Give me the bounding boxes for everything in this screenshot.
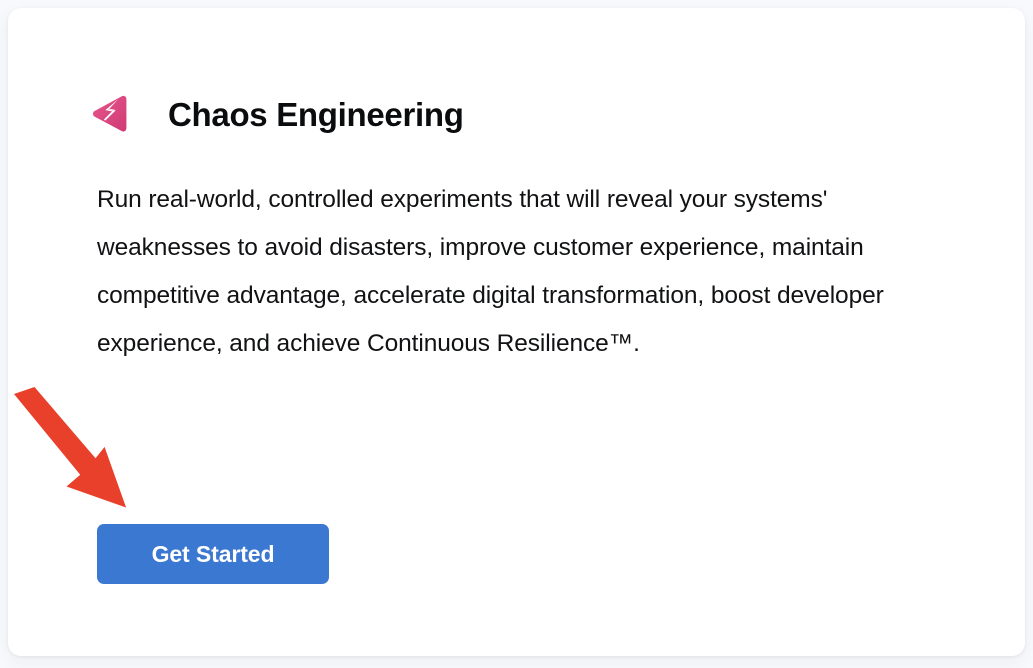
chaos-engineering-card: Chaos Engineering Run real-world, contro… (8, 8, 1025, 656)
page-title: Chaos Engineering (168, 98, 464, 131)
card-description: Run real-world, controlled experiments t… (97, 176, 941, 368)
get-started-button[interactable]: Get Started (97, 524, 329, 584)
gremlin-logo-icon (90, 94, 130, 134)
card-header: Chaos Engineering (90, 88, 464, 140)
screenshot-stage: Chaos Engineering Run real-world, contro… (0, 0, 1033, 668)
